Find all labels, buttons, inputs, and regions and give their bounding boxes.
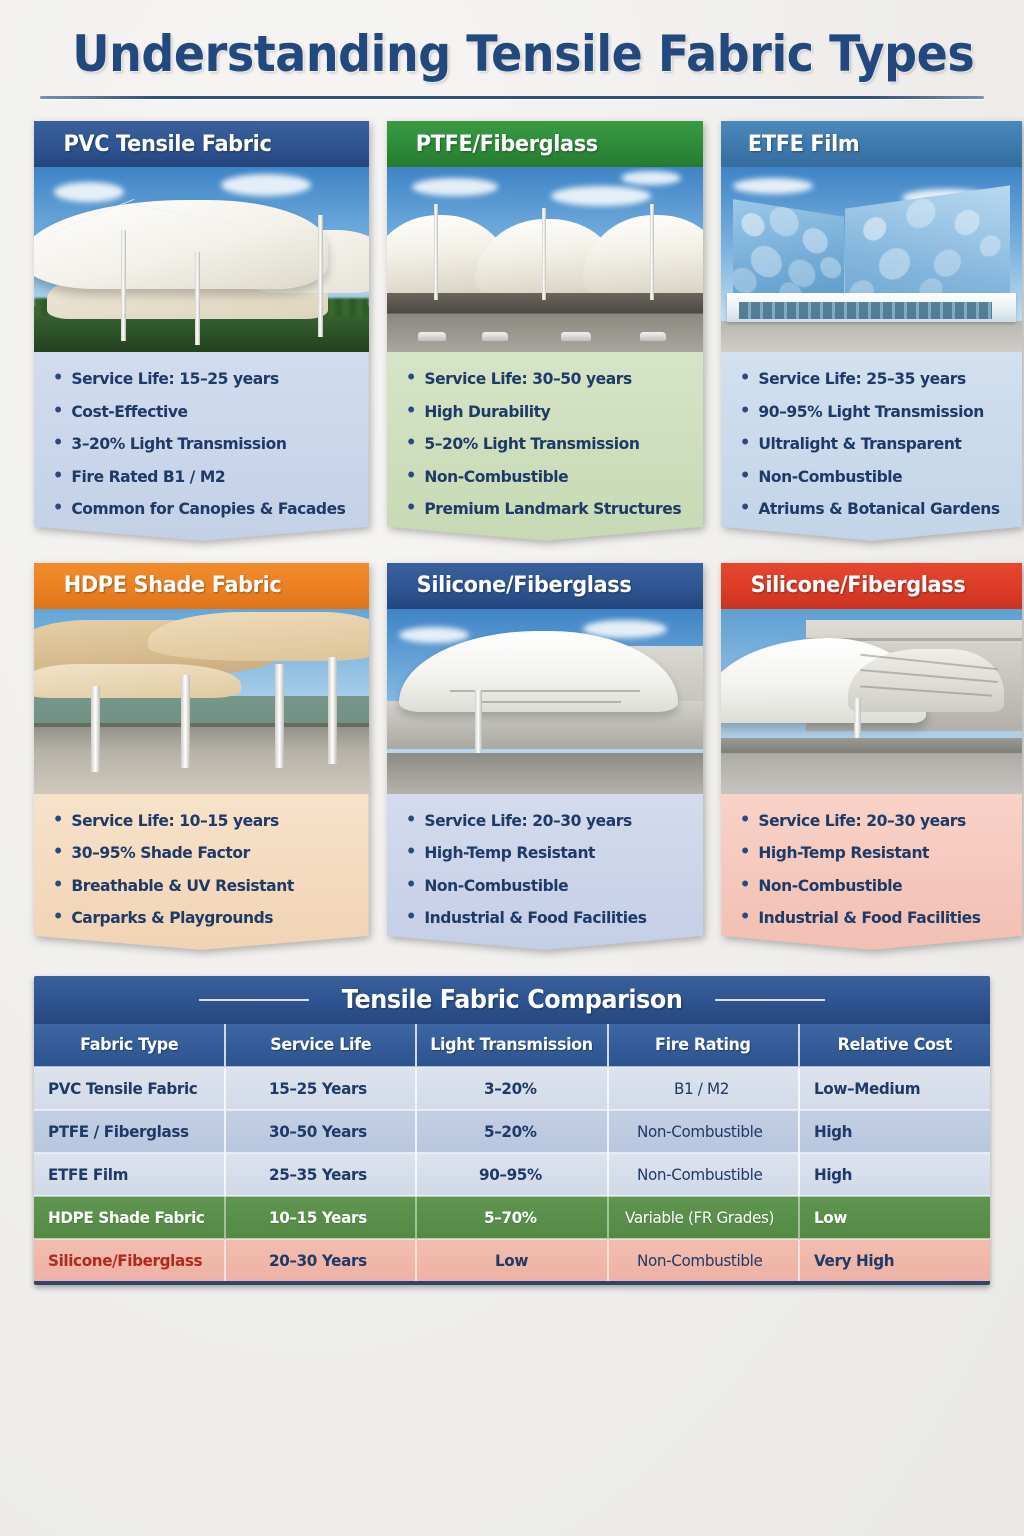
comparison-table: Fabric Type Service Life Light Transmiss… [34,1024,990,1281]
fabric-card-pvc[interactable]: PVC Tensile Fabric Service Life: 15– [34,121,369,541]
list-item: High Durability [403,403,681,422]
cell-light-transmission: 5–70% [416,1196,607,1239]
column-header-label: Fire Rating [655,1035,751,1055]
cell-text: Variable (FR Grades) [625,1208,774,1227]
list-item: 3–20% Light Transmission [50,435,345,454]
cell-relative-cost: Very High [799,1239,990,1281]
card-body-silicone-red: Service Life: 20–30 years High-Temp Resi… [721,794,1022,950]
card-photo-etfe [721,167,1022,352]
table-head: Fabric Type Service Life Light Transmiss… [34,1024,990,1067]
cell-fire-rating: Variable (FR Grades) [608,1196,799,1239]
card-header-etfe: ETFE Film [721,121,1022,167]
list-item: Service Life: 25–35 years [737,370,1000,389]
list-item: Atriums & Botanical Gardens [737,500,1000,519]
column-header-relative-cost: Relative Cost [799,1024,990,1067]
list-item: Industrial & Food Facilities [737,909,1000,928]
column-header-service-life: Service Life [225,1024,416,1067]
card-photo-silicone-red [721,609,1022,794]
cell-light-transmission: 5–20% [416,1110,607,1153]
card-title-hdpe: HDPE Shade Fabric [64,573,282,598]
infographic-page: Understanding Tensile Fabric Types PVC T… [0,0,1024,1536]
cell-text: PVC Tensile Fabric [48,1079,197,1098]
cell-relative-cost: High [799,1153,990,1196]
card-photo-pvc [34,167,369,352]
card-header-hdpe: HDPE Shade Fabric [34,563,369,609]
cell-fire-rating: B1 / M2 [608,1067,799,1110]
list-item: Breathable & UV Resistant [50,877,345,896]
cell-text: High [814,1122,852,1141]
fabric-card-ptfe[interactable]: PTFE/Fiberglass Se [387,121,704,541]
card-header-silicone-red: Silicone/Fiberglass [721,563,1022,609]
list-item: Service Life: 20–30 years [737,812,1000,831]
card-photo-hdpe [34,609,369,794]
fabric-card-hdpe[interactable]: HDPE Shade Fabric Service Life: 10–15 ye… [34,563,369,950]
table-row: HDPE Shade Fabric 10–15 Years 5–70% Vari… [34,1196,990,1239]
comparison-table-card: Tensile Fabric Comparison Fabric Type Se… [34,976,990,1285]
column-header-light-transmission: Light Transmission [416,1024,607,1067]
cell-fire-rating: Non-Combustible [608,1153,799,1196]
fabric-card-etfe[interactable]: ETFE Film Service Life: 25–35 years 90–9… [721,121,1022,541]
list-item: Carparks & Playgrounds [50,909,345,928]
list-item: High-Temp Resistant [403,844,681,863]
card-body-pvc: Service Life: 15–25 years Cost-Effective… [34,352,369,541]
cell-text: Very High [814,1251,894,1270]
cell-fabric-type: Silicone/Fiberglass [34,1239,225,1281]
cell-text: 30–50 Years [269,1122,367,1141]
list-item: Non-Combustible [403,468,681,487]
cell-fabric-type: PVC Tensile Fabric [34,1067,225,1110]
cell-service-life: 25–35 Years [225,1153,416,1196]
list-item: Service Life: 30–50 years [403,370,681,389]
table-header-row: Fabric Type Service Life Light Transmiss… [34,1024,990,1067]
comparison-table-title: Tensile Fabric Comparison [342,985,683,1015]
card-photo-ptfe [387,167,704,352]
column-header-label: Light Transmission [431,1035,594,1055]
card-header-pvc: PVC Tensile Fabric [34,121,369,167]
table-row: ETFE Film 25–35 Years 90–95% Non-Combust… [34,1153,990,1196]
card-title-pvc: PVC Tensile Fabric [63,132,271,157]
cell-text: ETFE Film [48,1165,128,1184]
title-divider [40,96,984,99]
fabric-card-grid: PVC Tensile Fabric Service Life: 15– [34,121,990,950]
cell-text: 5–20% [484,1122,537,1141]
list-item: Ultralight & Transparent [737,435,1000,454]
cell-text: Silicone/Fiberglass [48,1251,202,1270]
list-item: High-Temp Resistant [737,844,1000,863]
cell-text: HDPE Shade Fabric [48,1208,205,1227]
cell-fabric-type: HDPE Shade Fabric [34,1196,225,1239]
cell-relative-cost: High [799,1110,990,1153]
card-header-ptfe: PTFE/Fiberglass [387,121,704,167]
cell-text: Low [814,1208,847,1227]
cell-text: 20–30 Years [269,1251,367,1270]
cell-text: PTFE / Fiberglass [48,1122,189,1141]
card-title-silicone-red: Silicone/Fiberglass [751,573,966,598]
table-body: PVC Tensile Fabric 15–25 Years 3–20% B1 … [34,1067,990,1281]
column-header-fabric-type: Fabric Type [34,1024,225,1067]
column-header-label: Service Life [270,1035,371,1055]
cell-text: Non-Combustible [637,1122,762,1141]
list-item: Service Life: 10–15 years [50,812,345,831]
cell-text: 25–35 Years [269,1165,367,1184]
title-block: Understanding Tensile Fabric Types [34,0,990,99]
fabric-card-silicone-red[interactable]: Silicone/Fiberglass Service Life: 20–30 … [721,563,1022,950]
list-item: 5–20% Light Transmission [403,435,681,454]
cell-fabric-type: PTFE / Fiberglass [34,1110,225,1153]
list-item: Industrial & Food Facilities [403,909,681,928]
list-item: 90–95% Light Transmission [737,403,1000,422]
card-body-silicone-blue: Service Life: 20–30 years High-Temp Resi… [387,794,704,950]
table-row: PTFE / Fiberglass 30–50 Years 5–20% Non-… [34,1110,990,1153]
card-title-ptfe: PTFE/Fiberglass [415,132,597,157]
card-body-hdpe: Service Life: 10–15 years 30–95% Shade F… [34,794,369,950]
cell-service-life: 15–25 Years [225,1067,416,1110]
cell-service-life: 30–50 Years [225,1110,416,1153]
cell-text: 3–20% [484,1079,537,1098]
column-header-fire-rating: Fire Rating [608,1024,799,1067]
cell-text: Non-Combustible [637,1165,762,1184]
cell-text: Non-Combustible [637,1251,762,1270]
column-header-label: Relative Cost [838,1035,952,1055]
cell-fabric-type: ETFE Film [34,1153,225,1196]
card-title-silicone-blue: Silicone/Fiberglass [416,573,631,598]
cell-light-transmission: 90–95% [416,1153,607,1196]
list-item: Service Life: 20–30 years [403,812,681,831]
cell-text: 15–25 Years [269,1079,367,1098]
cell-text: High [814,1165,852,1184]
list-item: Premium Landmark Structures [403,500,681,519]
page-title: Understanding Tensile Fabric Types [72,26,952,82]
cell-service-life: 10–15 Years [225,1196,416,1239]
column-header-label: Fabric Type [80,1035,178,1055]
list-item: Fire Rated B1 / M2 [50,468,345,487]
cell-relative-cost: Low [799,1196,990,1239]
list-item: Non-Combustible [737,877,1000,896]
list-item: Non-Combustible [737,468,1000,487]
cell-light-transmission: 3–20% [416,1067,607,1110]
cell-text: 5–70% [484,1208,537,1227]
fabric-card-silicone-blue[interactable]: Silicone/Fiberglass Service Life: 20–30 … [387,563,704,950]
table-row: Silicone/Fiberglass 20–30 Years Low Non-… [34,1239,990,1281]
cell-fire-rating: Non-Combustible [608,1239,799,1281]
table-row: PVC Tensile Fabric 15–25 Years 3–20% B1 … [34,1067,990,1110]
cell-relative-cost: Low–Medium [799,1067,990,1110]
list-item: Service Life: 15–25 years [50,370,345,389]
comparison-table-title-bar: Tensile Fabric Comparison [34,976,990,1024]
card-header-silicone-blue: Silicone/Fiberglass [387,563,704,609]
title-rule-right [715,999,825,1001]
card-body-ptfe: Service Life: 30–50 years High Durabilit… [387,352,704,541]
cell-text: Low–Medium [814,1079,920,1098]
card-photo-silicone-blue [387,609,704,794]
cell-service-life: 20–30 Years [225,1239,416,1281]
card-body-etfe: Service Life: 25–35 years 90–95% Light T… [721,352,1022,541]
cell-text: Low [495,1251,528,1270]
cell-text: B1 / M2 [674,1079,729,1098]
cell-text: 10–15 Years [269,1208,367,1227]
title-rule-left [199,999,309,1001]
list-item: 30–95% Shade Factor [50,844,345,863]
cell-fire-rating: Non-Combustible [608,1110,799,1153]
cell-light-transmission: Low [416,1239,607,1281]
list-item: Common for Canopies & Facades [50,500,345,519]
list-item: Cost-Effective [50,403,345,422]
card-title-etfe: ETFE Film [748,132,859,157]
cell-text: 90–95% [479,1165,542,1184]
list-item: Non-Combustible [403,877,681,896]
